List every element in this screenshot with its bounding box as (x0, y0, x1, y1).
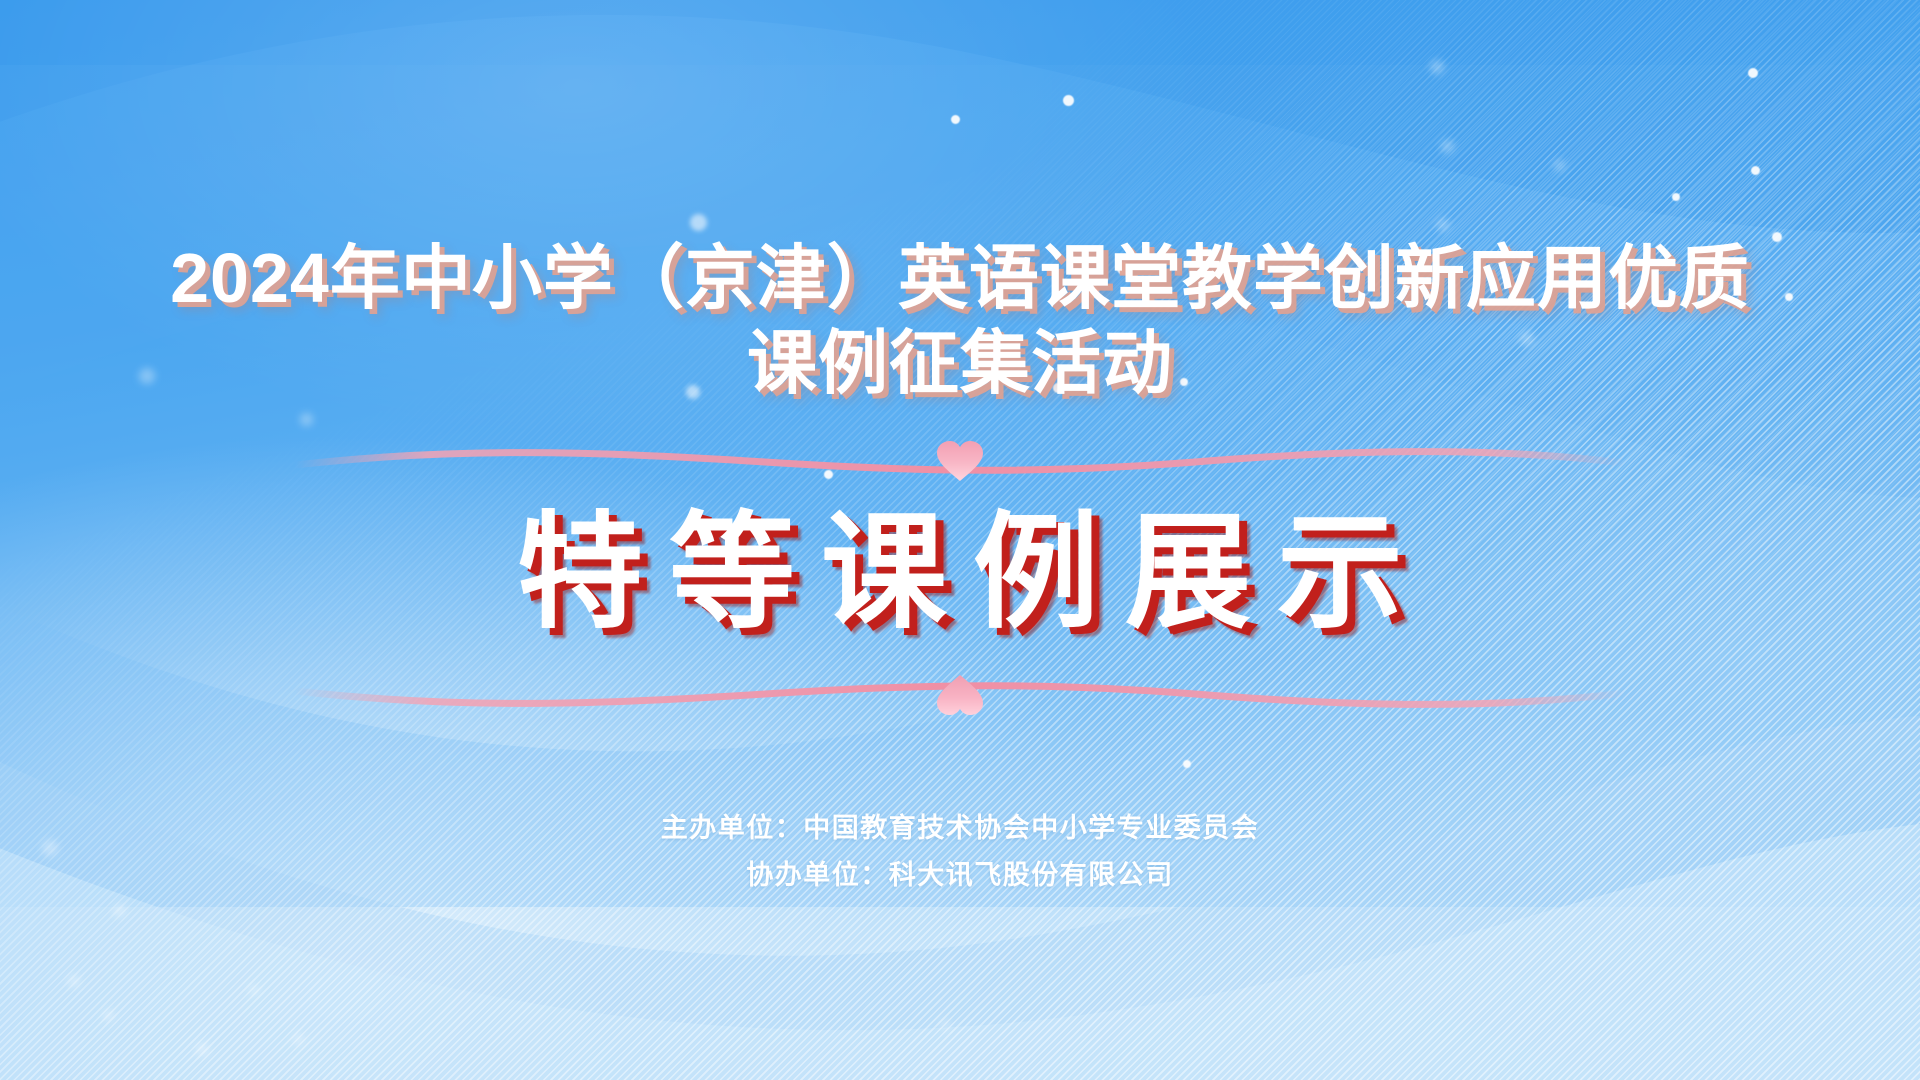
footer-line-host: 主办单位：中国教育技术协会中小学专业委员会 (661, 805, 1260, 851)
organizer-footer: 主办单位：中国教育技术协会中小学专业委员会 协办单位：科大讯飞股份有限公司 (661, 805, 1260, 898)
divider-top (295, 429, 1625, 493)
heart-icon (937, 441, 983, 481)
divider-bottom (295, 663, 1625, 727)
event-title-line-2: 课例征集活动 (110, 321, 1810, 406)
event-title: 2024年中小学（京津）英语课堂教学创新应用优质 课例征集活动 (110, 236, 1810, 407)
headline: 特等课例展示 (491, 499, 1429, 648)
footer-line-co-host: 协办单位：科大讯飞股份有限公司 (661, 852, 1260, 898)
event-title-line-1: 2024年中小学（京津）英语课堂教学创新应用优质 (110, 236, 1810, 321)
heart-inverted-icon (937, 675, 983, 715)
presentation-slide: 2024年中小学（京津）英语课堂教学创新应用优质 课例征集活动 (0, 0, 1920, 1080)
slide-content: 2024年中小学（京津）英语课堂教学创新应用优质 课例征集活动 (0, 0, 1920, 1080)
